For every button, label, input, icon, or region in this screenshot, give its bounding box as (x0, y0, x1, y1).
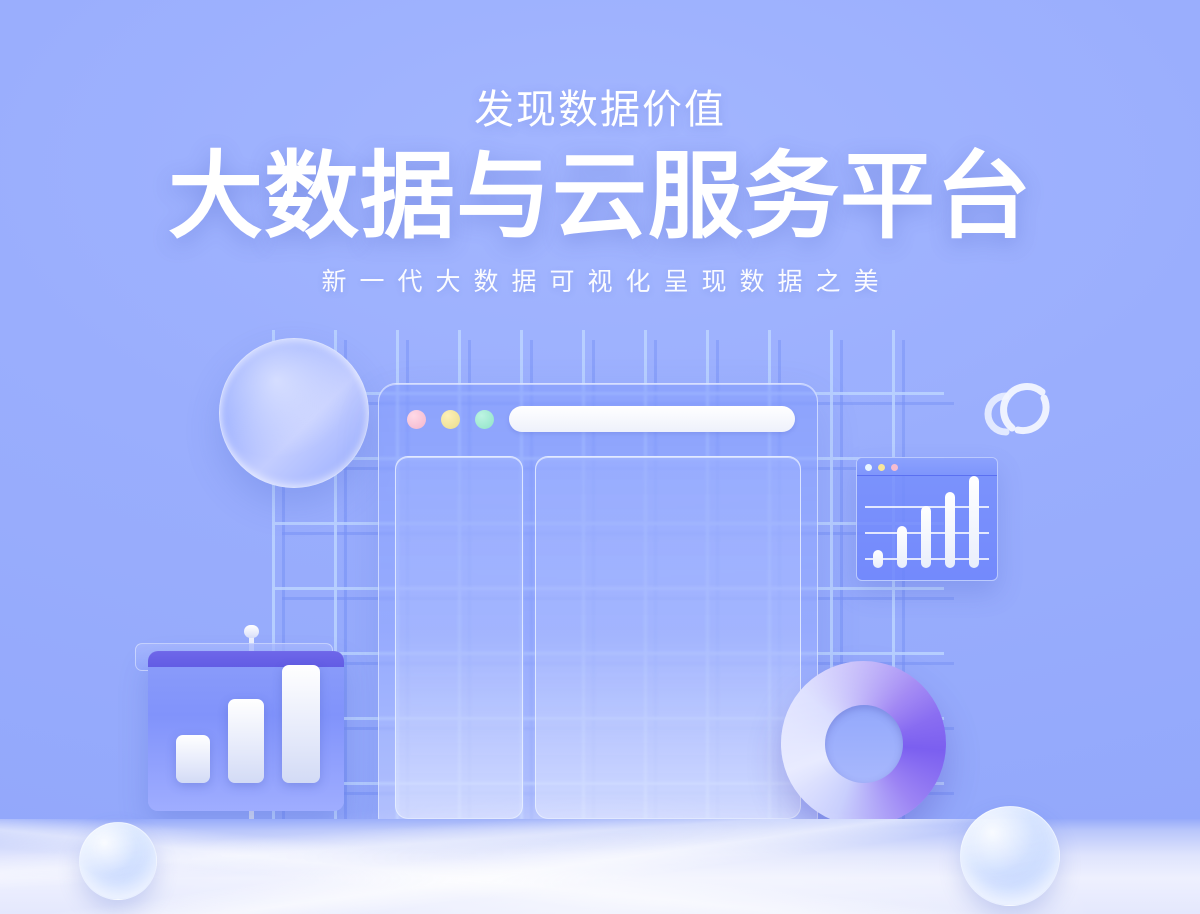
bar-chart-card[interactable] (148, 651, 344, 811)
mini-bar-3 (921, 506, 931, 568)
browser-window[interactable] (378, 383, 818, 835)
red-dot-icon[interactable] (407, 410, 426, 429)
glass-sphere-left (79, 822, 157, 900)
pink-dot-icon[interactable] (891, 464, 898, 471)
donut-ring (781, 661, 946, 826)
hero-banner: 发现数据价值 大数据与云服务平台 新一代大数据可视化呈现数据之美 (0, 0, 1200, 914)
subtitle-text: 新一代大数据可视化呈现数据之美 (0, 262, 1200, 298)
mini-bar-4 (945, 492, 955, 568)
bar-1 (176, 735, 210, 783)
kicker-text: 发现数据价值 (0, 88, 1200, 132)
glass-sphere-right (960, 806, 1060, 906)
hero-text-block: 发现数据价值 大数据与云服务平台 新一代大数据可视化呈现数据之美 (0, 88, 1200, 298)
bar-3 (282, 665, 320, 783)
monitor-stand-cap (244, 625, 259, 638)
content-panel[interactable] (535, 456, 801, 819)
donut-hole (825, 705, 903, 783)
mini-bar-1 (873, 550, 883, 568)
mini-chart-window[interactable] (856, 457, 998, 581)
bar-2 (228, 699, 264, 783)
browser-title-bar (379, 384, 817, 446)
green-dot-icon[interactable] (475, 410, 494, 429)
glass-disc (219, 338, 369, 488)
page-title: 大数据与云服务平台 (0, 148, 1200, 248)
white-dot-icon[interactable] (865, 464, 872, 471)
mini-bar-5 (969, 476, 979, 568)
mini-title-bar (857, 458, 997, 476)
cloud-icon (972, 366, 1064, 438)
yellow-dot-icon[interactable] (878, 464, 885, 471)
mini-bar-2 (897, 526, 907, 568)
yellow-dot-icon[interactable] (441, 410, 460, 429)
sidebar-panel[interactable] (395, 456, 523, 819)
url-input[interactable] (509, 406, 795, 432)
